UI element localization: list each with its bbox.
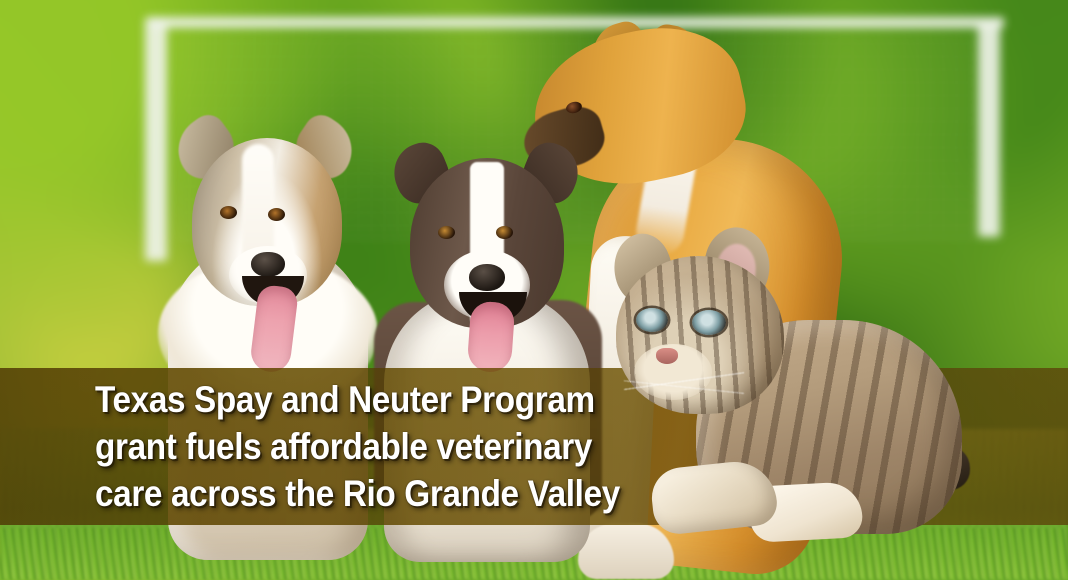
aussie-nose: [251, 252, 285, 277]
collie-eye-right: [496, 226, 513, 239]
collie-nose: [469, 264, 505, 291]
kitten-whiskers: [624, 360, 744, 406]
banner-image: Texas Spay and Neuter Program grant fuel…: [0, 0, 1068, 580]
tabby-kitten: [600, 232, 975, 580]
collie-tongue: [467, 301, 516, 374]
page-title: Texas Spay and Neuter Program grant fuel…: [95, 376, 620, 517]
headline-line-2: grant fuels affordable veterinary: [95, 423, 620, 470]
aussie-eye-right: [268, 208, 285, 221]
headline-line-1: Texas Spay and Neuter Program: [95, 376, 620, 423]
kitten-eye-right: [692, 310, 726, 335]
kitten-eye-left: [636, 308, 668, 332]
collie-eye-left: [438, 226, 455, 239]
headline-line-3: care across the Rio Grande Valley: [95, 470, 620, 517]
kitten-front-paw-left: [649, 458, 779, 537]
aussie-eye-left: [220, 206, 237, 219]
